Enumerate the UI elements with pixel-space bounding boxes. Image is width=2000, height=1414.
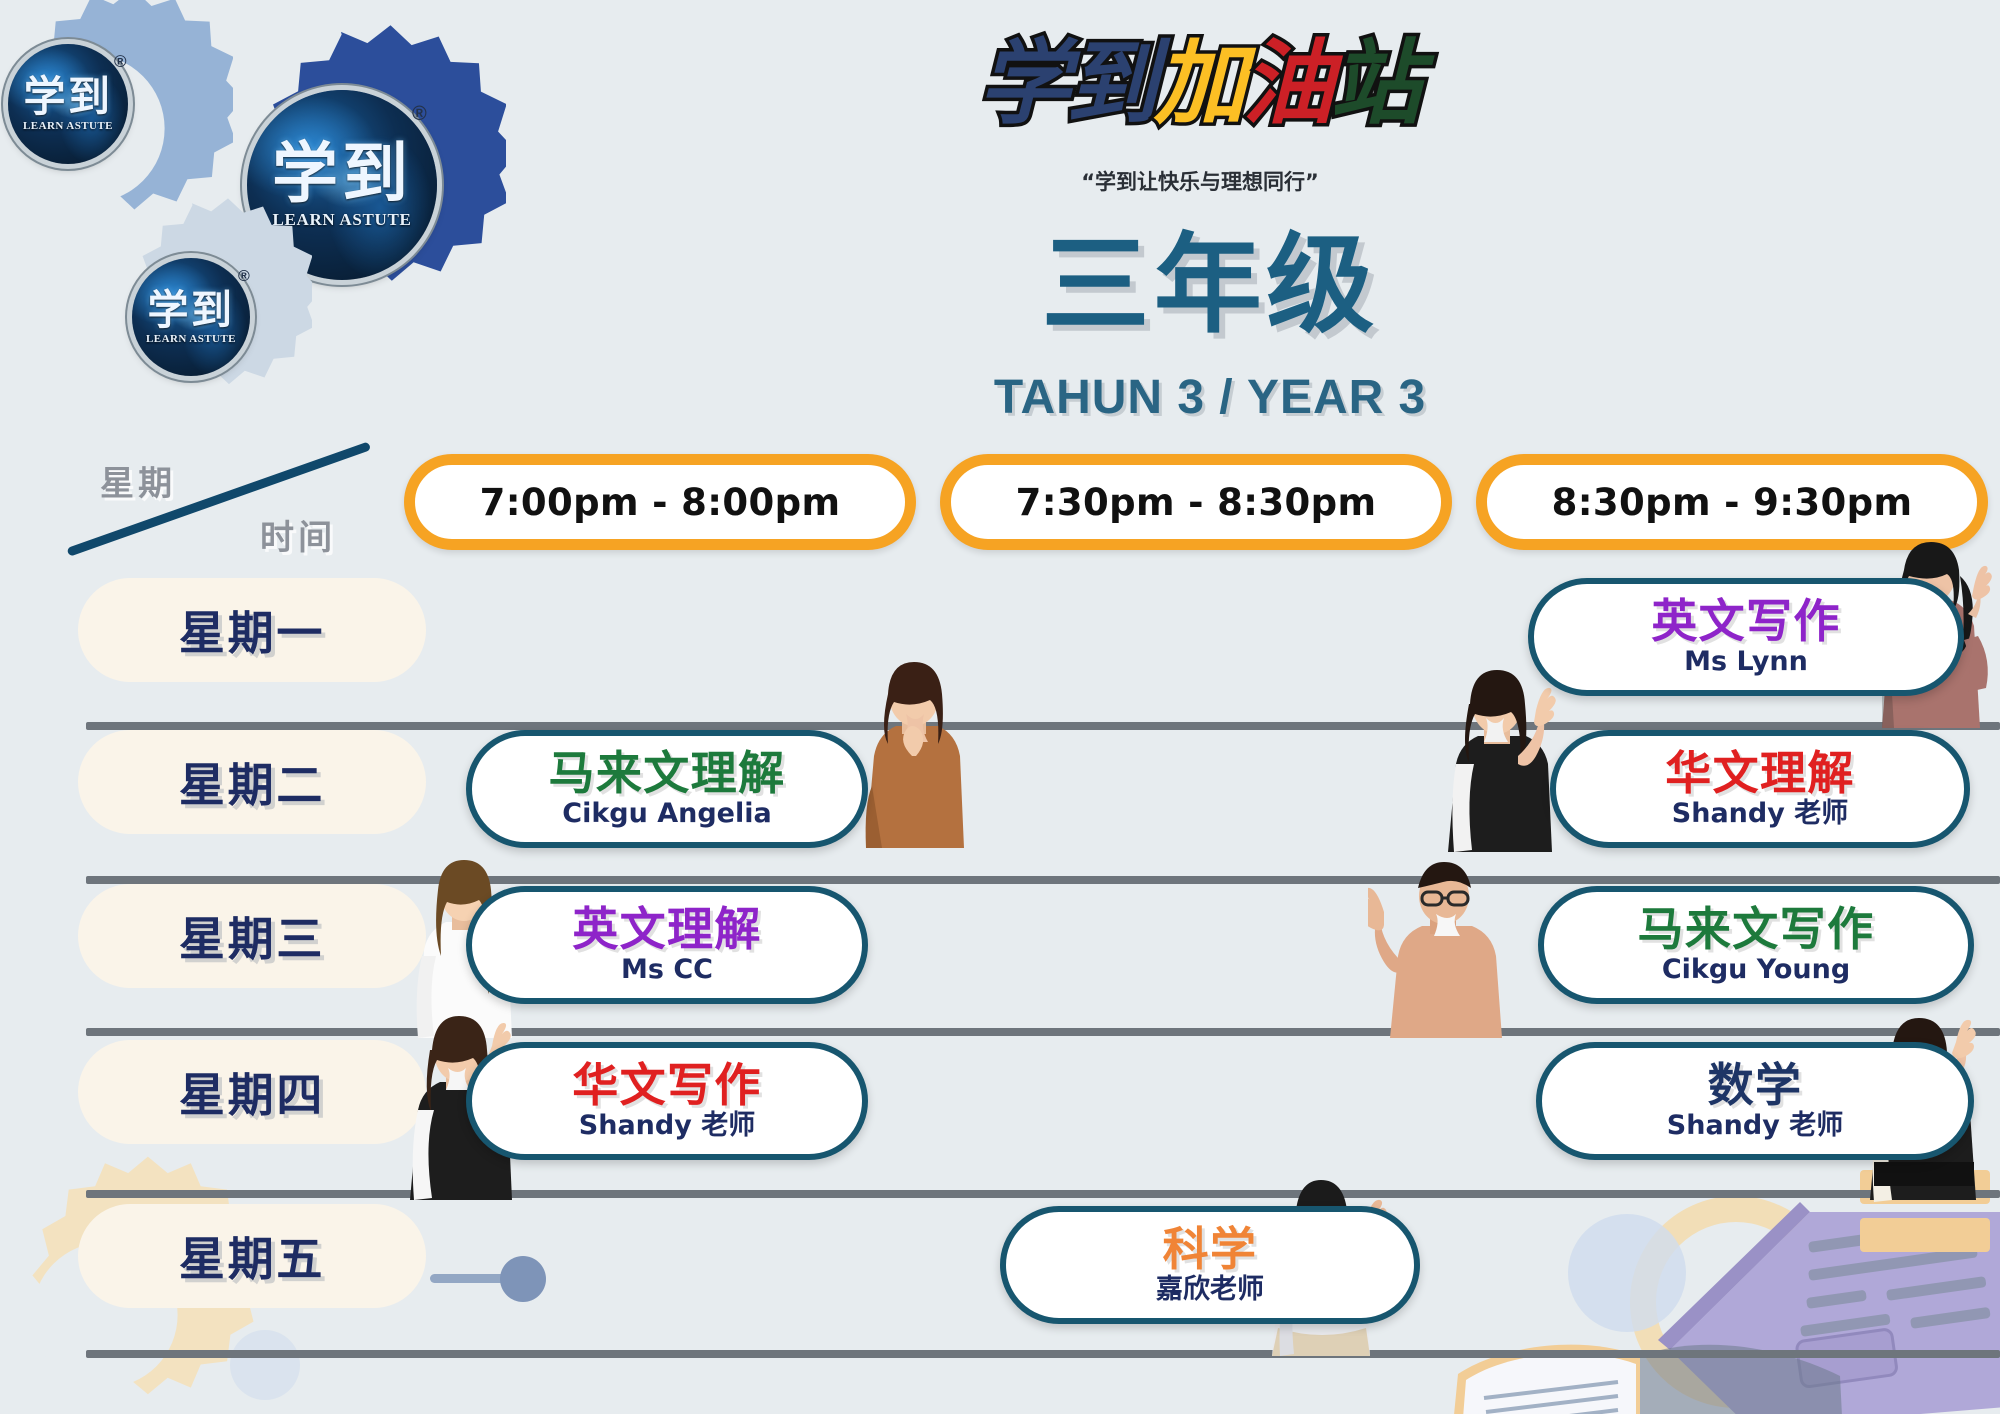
decorative-gear-light	[72, 196, 312, 436]
class-teacher: Shandy 老师	[579, 1111, 755, 1141]
class-teacher: 嘉欣老师	[1156, 1275, 1264, 1305]
class-subject: 英文写作	[1651, 598, 1841, 645]
time-slot-header-3[interactable]: 8:30pm - 9:30pm	[1476, 454, 1988, 550]
time-slot-header-1[interactable]: 7:00pm - 8:00pm	[404, 454, 916, 550]
row-divider-1	[86, 722, 2000, 730]
grade-title-english: TAHUN 3 / YEAR 3	[900, 370, 1520, 425]
logo-chinese-text: 学到	[272, 141, 412, 207]
corner-day-label: 星期	[100, 456, 176, 505]
class-subject: 华文写作	[572, 1062, 762, 1109]
decorative-gear-pale	[0, 0, 233, 271]
class-card-thursday-slot1[interactable]: 华文写作 Shandy 老师	[466, 1042, 868, 1160]
class-card-monday-slot3[interactable]: 英文写作 Ms Lynn	[1528, 578, 1964, 696]
class-card-tuesday-slot1[interactable]: 马来文理解 Cikgu Angelia	[466, 730, 868, 848]
day-row-label-monday: 星期一	[78, 578, 426, 682]
logo-badge-main: 学到 LEARN ASTUTE	[247, 90, 437, 280]
decorative-gear-dark	[176, 22, 506, 352]
day-label: 星期二	[179, 749, 325, 815]
grade-title-chinese: 三年级	[900, 232, 1520, 340]
logo-chinese-text: 学到	[23, 76, 112, 118]
brand-char-1: 学	[978, 38, 1070, 130]
decorative-circle	[1568, 1214, 1686, 1332]
logo-chinese-text: 学到	[148, 290, 235, 331]
background-decorations: 学到 LEARN ASTUTE ® 学到 LEARN ASTUTE ® 学到 L…	[0, 0, 2000, 1414]
teacher-photo-shandy-tue	[1432, 664, 1572, 854]
row-divider-2	[86, 876, 2000, 884]
day-row-label-tuesday: 星期二	[78, 730, 426, 834]
time-slot-label: 7:30pm - 8:30pm	[1016, 481, 1377, 524]
decorative-circle	[230, 1330, 300, 1400]
class-teacher: Ms Lynn	[1684, 647, 1808, 677]
class-subject: 数学	[1708, 1062, 1803, 1109]
brand-char-2: 到	[1066, 38, 1158, 130]
table-corner-header: 星期 时间	[60, 448, 400, 578]
class-subject: 英文理解	[572, 906, 762, 953]
decorative-ruler	[1850, 1160, 2000, 1315]
class-card-wednesday-slot1[interactable]: 英文理解 Ms CC	[466, 886, 868, 1004]
brand-tagline: “学到让快乐与理想同行”	[880, 166, 1520, 196]
class-card-tuesday-slot3[interactable]: 华文理解 Shandy 老师	[1550, 730, 1970, 848]
teacher-photo-cikgu-angelia	[848, 660, 980, 850]
row-divider-4	[86, 1190, 2000, 1198]
class-teacher: Ms CC	[621, 955, 713, 985]
row-divider-3	[86, 1028, 2000, 1036]
class-card-friday-slot2[interactable]: 科学 嘉欣老师	[1000, 1206, 1420, 1324]
decorative-laptop	[1600, 1190, 2000, 1414]
time-slot-label: 8:30pm - 9:30pm	[1552, 481, 1913, 524]
brand-title: 学到加油站	[880, 38, 1520, 158]
logo-badge-light: 学到 LEARN ASTUTE	[132, 258, 250, 376]
day-label: 星期三	[179, 903, 325, 969]
day-row-label-friday: 星期五	[78, 1204, 426, 1308]
class-subject: 马来文写作	[1638, 906, 1875, 953]
registered-mark-icon: ®	[238, 268, 250, 286]
decorative-open-book	[1440, 1306, 1860, 1414]
day-label: 星期五	[179, 1223, 325, 1289]
class-teacher: Shandy 老师	[1672, 799, 1848, 829]
time-slot-label: 7:00pm - 8:00pm	[480, 481, 841, 524]
class-card-thursday-slot3[interactable]: 数学 Shandy 老师	[1536, 1042, 1974, 1160]
class-subject: 科学	[1163, 1226, 1258, 1273]
registered-mark-icon: ®	[412, 103, 427, 126]
logo-english-text: LEARN ASTUTE	[272, 210, 411, 230]
corner-time-label: 时间	[260, 510, 336, 559]
schedule-poster: 学到 LEARN ASTUTE ® 学到 LEARN ASTUTE ® 学到 L…	[0, 0, 2000, 1414]
friday-connector-dot	[500, 1256, 546, 1302]
class-subject: 马来文理解	[549, 750, 786, 797]
row-divider-5	[86, 1350, 2000, 1358]
logo-badge-pale: 学到 LEARN ASTUTE	[8, 44, 128, 164]
day-label: 星期一	[179, 597, 325, 663]
time-slot-header-2[interactable]: 7:30pm - 8:30pm	[940, 454, 1452, 550]
brand-char-4: 油	[1242, 38, 1334, 130]
logo-english-text: LEARN ASTUTE	[23, 120, 113, 132]
day-row-label-thursday: 星期四	[78, 1040, 426, 1144]
class-subject: 华文理解	[1665, 750, 1855, 797]
class-teacher: Cikgu Angelia	[562, 799, 771, 829]
logo-english-text: LEARN ASTUTE	[146, 333, 236, 345]
registered-mark-icon: ®	[114, 52, 127, 72]
brand-char-3: 加	[1154, 38, 1246, 130]
decorative-ring	[1630, 1196, 1842, 1408]
brand-char-5: 站	[1330, 38, 1422, 130]
class-teacher: Cikgu Young	[1662, 955, 1850, 985]
day-row-label-wednesday: 星期三	[78, 884, 426, 988]
class-card-wednesday-slot3[interactable]: 马来文写作 Cikgu Young	[1538, 886, 1974, 1004]
class-teacher: Shandy 老师	[1667, 1111, 1843, 1141]
day-label: 星期四	[179, 1059, 325, 1125]
teacher-photo-cikgu-young	[1368, 860, 1528, 1040]
